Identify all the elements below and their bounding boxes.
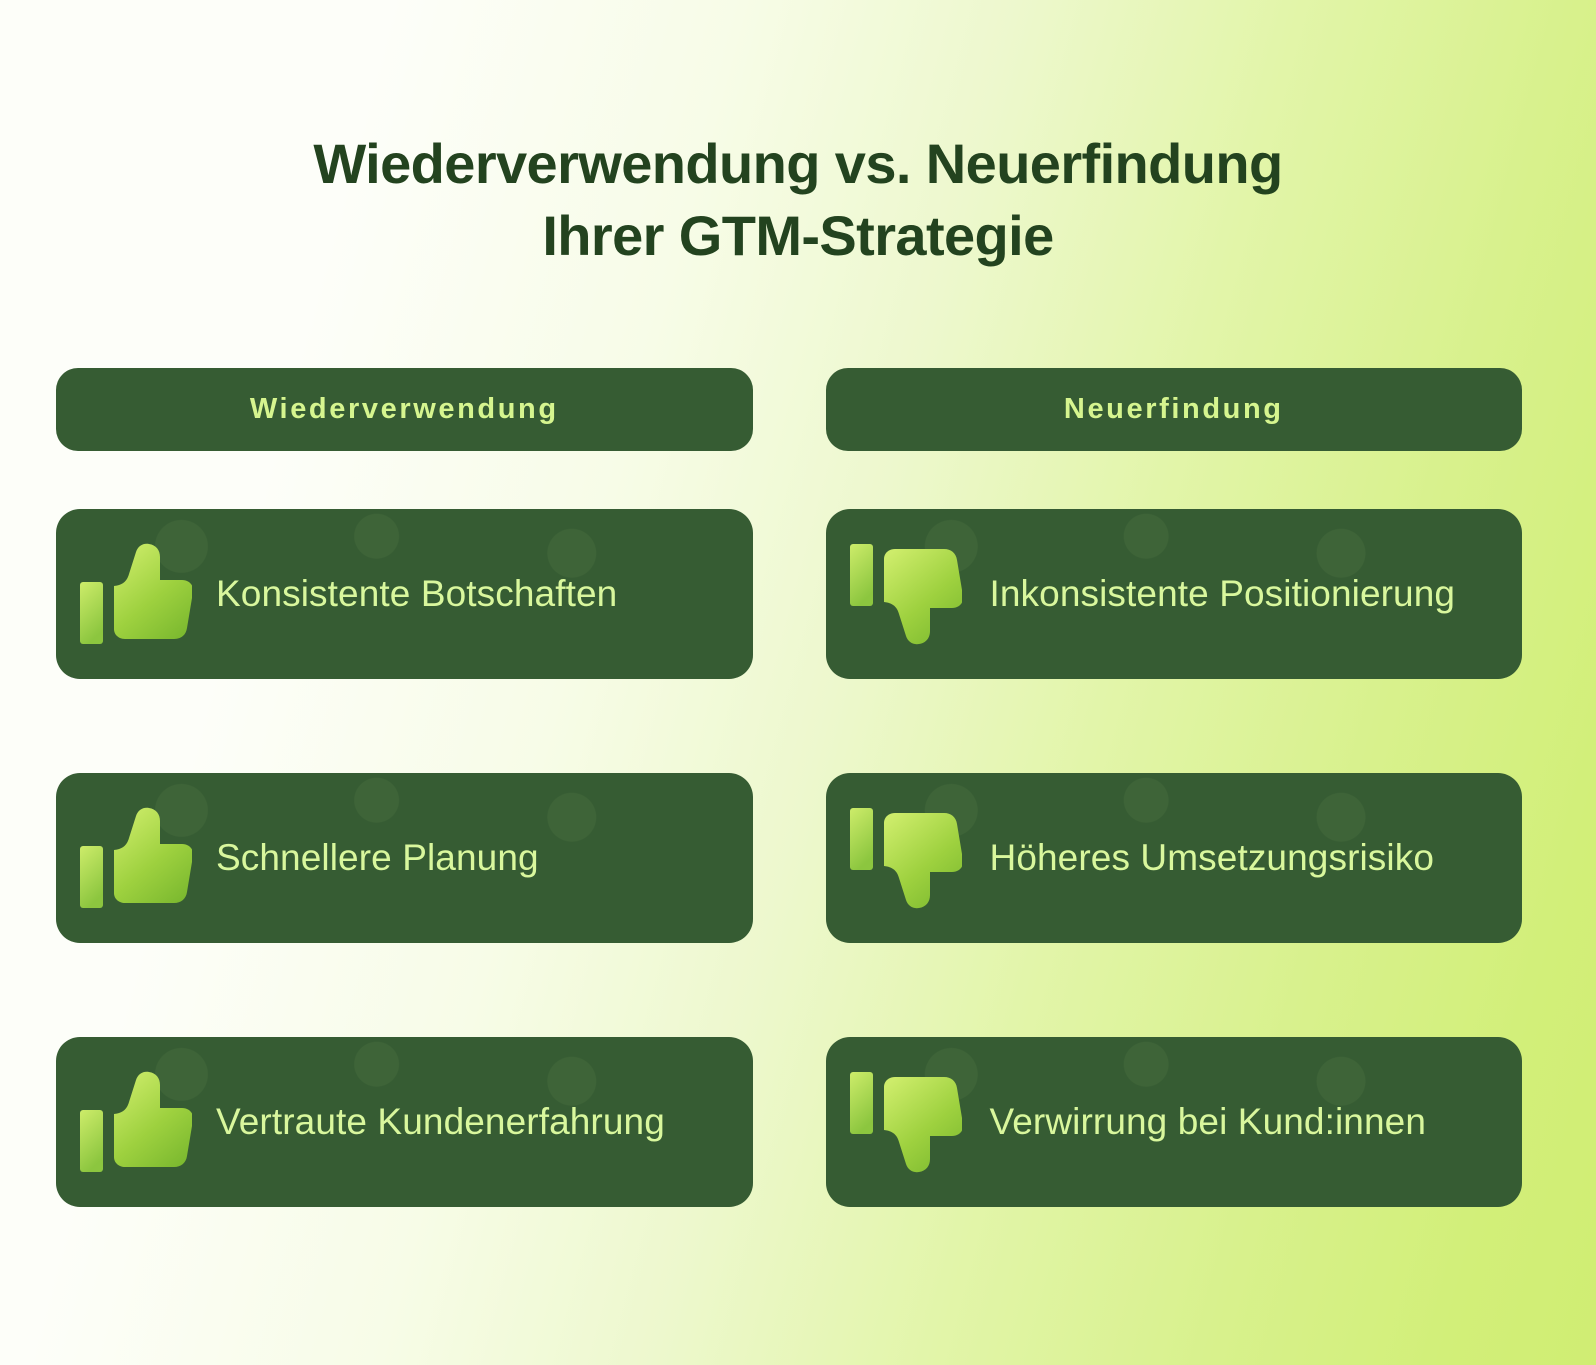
list-item-label: Konsistente Botschaften — [216, 573, 617, 616]
page-title: Wiederverwendung vs. Neuerfindung Ihrer … — [0, 128, 1596, 271]
list-item: Konsistente Botschaften — [56, 509, 753, 679]
thumbs-up-icon — [56, 542, 216, 646]
thumbs-down-icon — [826, 542, 986, 646]
title-line-1: Wiederverwendung vs. Neuerfindung — [120, 128, 1476, 200]
list-item-label: Verwirrung bei Kund:innen — [990, 1101, 1427, 1144]
list-item-label: Schnellere Planung — [216, 837, 539, 880]
thumbs-up-icon — [56, 806, 216, 910]
list-item-label: Vertraute Kundenerfahrung — [216, 1101, 665, 1144]
list-item-label: Inkonsistente Positionierung — [990, 573, 1456, 616]
list-item: Inkonsistente Positionierung — [826, 509, 1523, 679]
column-neuerfindung: Neuerfindung — [826, 368, 1523, 1207]
column-wiederverwendung: Wiederverwendung — [56, 368, 753, 1207]
thumbs-down-icon — [826, 806, 986, 910]
list-item: Vertraute Kundenerfahrung — [56, 1037, 753, 1207]
list-item: Schnellere Planung — [56, 773, 753, 943]
thumbs-up-icon — [56, 1070, 216, 1174]
list-item: Verwirrung bei Kund:innen — [826, 1037, 1523, 1207]
column-header-label: Neuerfindung — [1064, 395, 1284, 424]
list-item-label: Höheres Umsetzungsrisiko — [990, 837, 1435, 880]
infographic-canvas: Wiederverwendung vs. Neuerfindung Ihrer … — [0, 0, 1596, 1365]
column-header-neuerfindung: Neuerfindung — [826, 368, 1523, 451]
column-header-label: Wiederverwendung — [250, 395, 559, 424]
comparison-columns: Wiederverwendung — [56, 368, 1522, 1207]
title-line-2: Ihrer GTM-Strategie — [120, 200, 1476, 272]
column-header-wiederverwendung: Wiederverwendung — [56, 368, 753, 451]
list-item: Höheres Umsetzungsrisiko — [826, 773, 1523, 943]
thumbs-down-icon — [826, 1070, 986, 1174]
